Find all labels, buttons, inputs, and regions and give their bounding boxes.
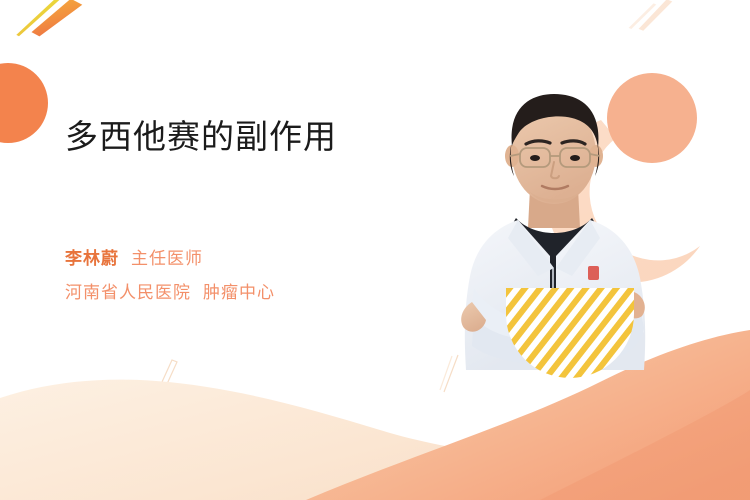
- coat-badge: [588, 266, 599, 280]
- striped-circle-decor: [506, 288, 634, 378]
- eye-left: [530, 155, 540, 161]
- doctor-affiliation-line: 河南省人民医院肿瘤中心: [65, 284, 445, 302]
- doctor-video-cover-card: 多西他赛的副作用 李林蔚主任医师 河南省人民医院肿瘤中心: [0, 0, 750, 500]
- doctor-department: 肿瘤中心: [203, 283, 275, 302]
- orange-circle-decor: [0, 63, 48, 143]
- eye-right: [570, 155, 580, 161]
- top-left-stripes: [16, 0, 82, 47]
- doctor-info-block: 李林蔚主任医师 河南省人民医院肿瘤中心: [65, 250, 445, 302]
- title-block: 多西他赛的副作用: [65, 118, 425, 157]
- doctor-name: 李林蔚: [65, 249, 119, 268]
- doctor-professional-title: 主任医师: [131, 249, 203, 268]
- top-right-faint-stripes: [629, 0, 673, 37]
- page-title: 多西他赛的副作用: [65, 118, 425, 157]
- doctor-name-line: 李林蔚主任医师: [65, 250, 445, 268]
- doctor-hospital: 河南省人民医院: [65, 283, 191, 302]
